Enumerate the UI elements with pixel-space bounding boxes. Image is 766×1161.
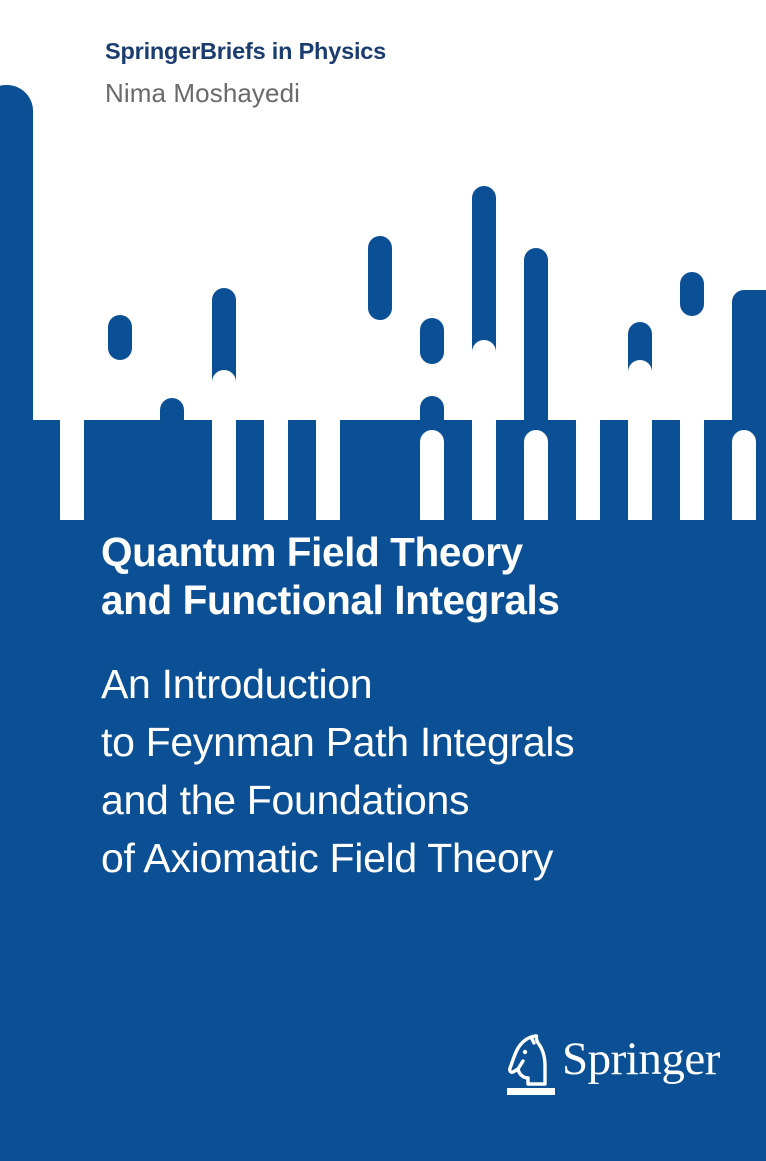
book-subtitle: An Introduction to Feynman Path Integral… [101, 655, 741, 887]
springer-wordmark: Springer [562, 1036, 720, 1083]
book-cover: SpringerBriefs in Physics Nima Moshayedi… [0, 0, 766, 1161]
book-title: Quantum Field Theory and Functional Inte… [101, 528, 721, 624]
subtitle-line-2: to Feynman Path Integrals [101, 713, 741, 771]
subtitle-line-3: and the Foundations [101, 771, 741, 829]
subtitle-line-4: of Axiomatic Field Theory [101, 829, 741, 887]
subtitle-line-1: An Introduction [101, 655, 741, 713]
cover-top-band: SpringerBriefs in Physics Nima Moshayedi [0, 0, 766, 520]
author-name: Nima Moshayedi [105, 78, 300, 109]
series-title: SpringerBriefs in Physics [105, 38, 386, 65]
title-line-2: and Functional Integrals [101, 576, 721, 624]
springer-logo: Springer [505, 1030, 695, 1102]
title-line-1: Quantum Field Theory [101, 528, 721, 576]
